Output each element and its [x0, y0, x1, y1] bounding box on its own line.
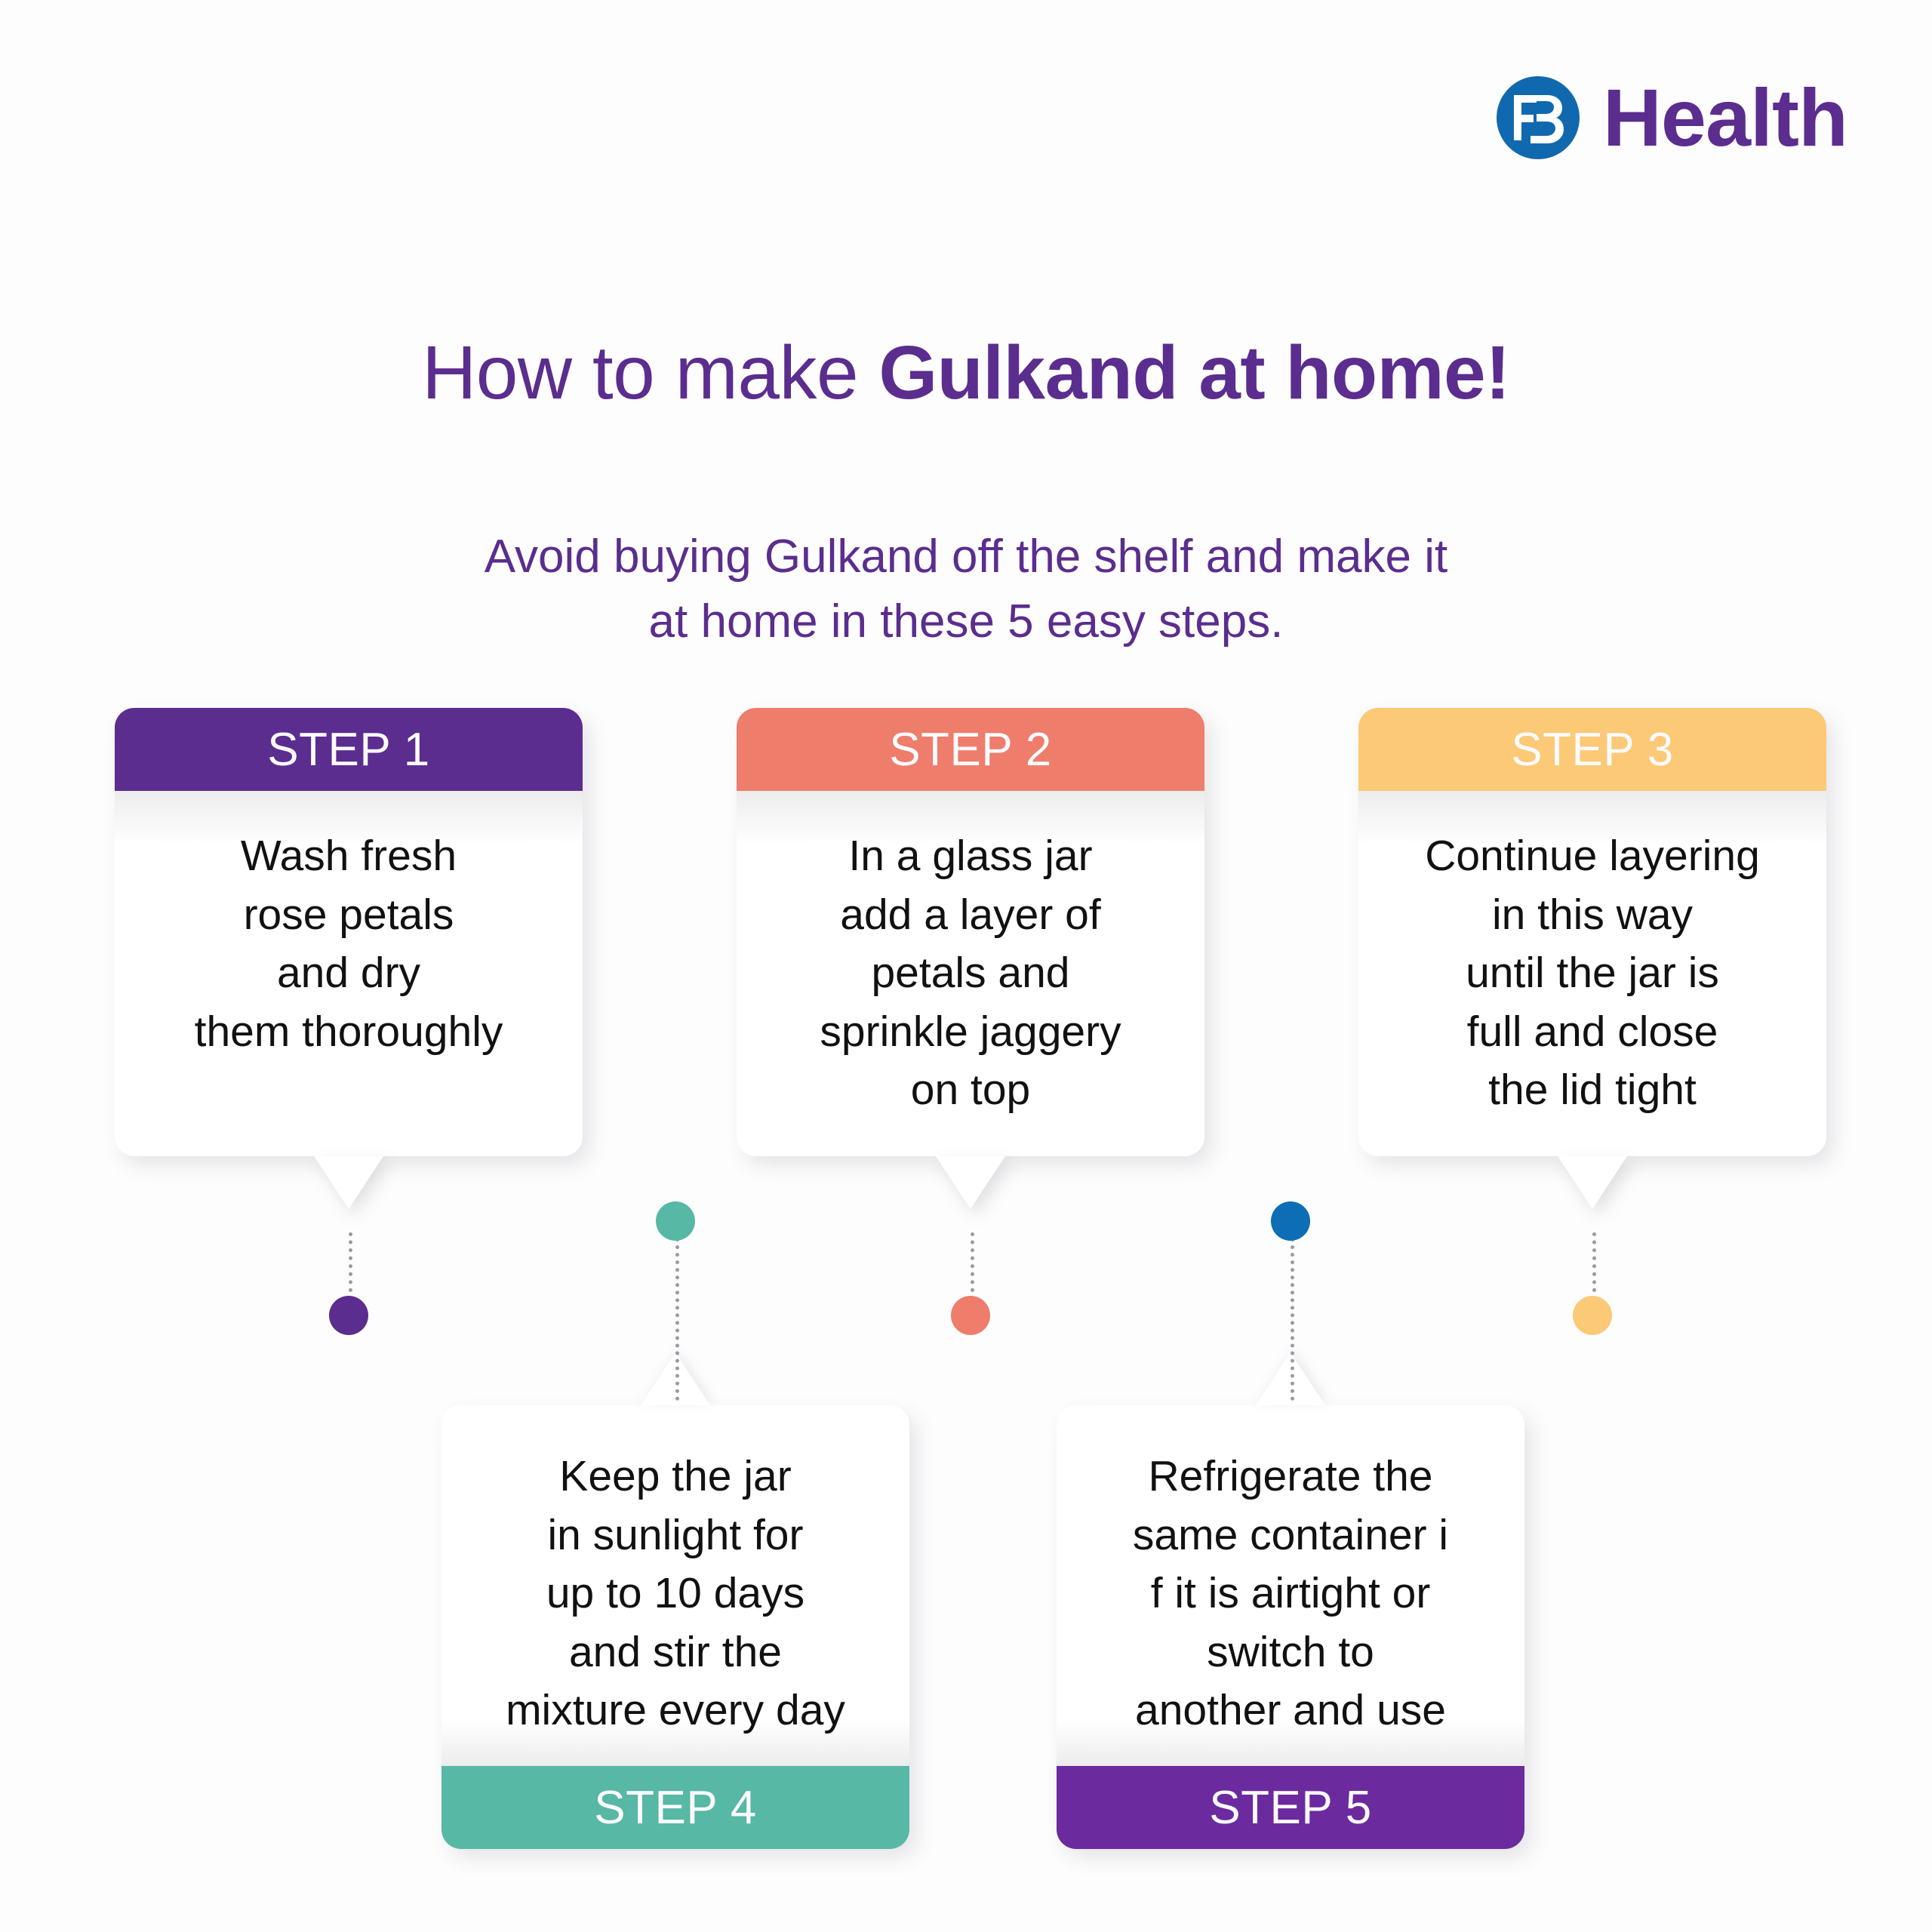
page-subtitle: Avoid buying Gulkand off the shelf and m… [0, 525, 1932, 654]
step-body-3: Continue layeringin this wayuntil the ja… [1358, 791, 1826, 1156]
step-card-3: STEP 3Continue layeringin this wayuntil … [1358, 708, 1826, 1156]
connector-line-1 [349, 1232, 352, 1292]
step-body-line: Continue layering [1425, 827, 1760, 886]
step-body-line: mixture every day [506, 1681, 845, 1740]
connector-dot-1 [329, 1296, 368, 1335]
step-card-5: Refrigerate thesame container if it is a… [1057, 1405, 1524, 1849]
step-body-line: in sunlight for [506, 1506, 845, 1565]
step-card-2: STEP 2In a glass jaradd a layer ofpetals… [737, 708, 1204, 1156]
step-tail-1 [314, 1156, 383, 1209]
page-subtitle-line-1: Avoid buying Gulkand off the shelf and m… [0, 525, 1932, 589]
connector-dot-4 [656, 1201, 695, 1241]
page-subtitle-line-2: at home in these 5 easy steps. [0, 589, 1932, 654]
page-title: How to make Gulkand at home! [0, 328, 1932, 417]
connector-line-4 [675, 1223, 679, 1401]
step-header-5: STEP 5 [1057, 1766, 1524, 1849]
bajaj-finserv-b-icon [1493, 72, 1583, 163]
step-body-line: and stir the [506, 1623, 845, 1682]
step-body-line: full and close [1425, 1003, 1760, 1062]
step-body-line: sprinkle jaggery [820, 1003, 1121, 1062]
step-card-1: STEP 1Wash freshrose petalsand drythem t… [115, 708, 583, 1156]
step-body-line: same container i [1133, 1506, 1448, 1565]
step-body-2: In a glass jaradd a layer ofpetals andsp… [737, 791, 1204, 1156]
step-card-4: Keep the jarin sunlight forup to 10 days… [441, 1405, 909, 1849]
step-header-2: STEP 2 [737, 708, 1204, 791]
page-title-light: How to make [422, 331, 878, 415]
connector-line-3 [1592, 1232, 1596, 1292]
brand-name: Health [1603, 77, 1847, 158]
step-body-line: in this way [1425, 886, 1760, 945]
connector-line-5 [1291, 1223, 1294, 1401]
step-body-4: Keep the jarin sunlight forup to 10 days… [441, 1405, 909, 1766]
step-body-line: add a layer of [820, 886, 1121, 945]
step-body-line: Wash fresh [195, 827, 503, 886]
step-body-line: up to 10 days [506, 1564, 845, 1623]
step-tail-3 [1558, 1156, 1627, 1209]
step-body-5: Refrigerate thesame container if it is a… [1057, 1405, 1524, 1766]
step-body-line: petals and [820, 944, 1121, 1003]
step-body-line: rose petals [195, 886, 503, 945]
step-body-line: Refrigerate the [1133, 1447, 1448, 1506]
step-body-1: Wash freshrose petalsand drythem thoroug… [115, 791, 583, 1156]
connector-dot-5 [1271, 1201, 1310, 1241]
connector-dot-3 [1573, 1296, 1612, 1335]
step-body-line: Keep the jar [506, 1447, 845, 1506]
step-body-line: until the jar is [1425, 944, 1760, 1003]
step-body-line: In a glass jar [820, 827, 1121, 886]
step-header-1: STEP 1 [115, 708, 583, 791]
brand-logo: Health [1493, 72, 1847, 163]
step-body-line: the lid tight [1425, 1061, 1760, 1120]
step-body-line: switch to [1133, 1623, 1448, 1682]
step-body-line: another and use [1133, 1681, 1448, 1740]
step-body-line: f it is airtight or [1133, 1564, 1448, 1623]
page-title-bold: Gulkand at home! [878, 331, 1510, 415]
step-body-line: them thoroughly [195, 1003, 503, 1062]
connector-dot-2 [951, 1296, 990, 1335]
step-body-line: on top [820, 1061, 1121, 1120]
step-tail-2 [936, 1156, 1005, 1209]
step-body-line: and dry [195, 944, 503, 1003]
connector-line-2 [971, 1232, 974, 1292]
step-header-4: STEP 4 [441, 1766, 909, 1849]
step-header-3: STEP 3 [1358, 708, 1826, 791]
